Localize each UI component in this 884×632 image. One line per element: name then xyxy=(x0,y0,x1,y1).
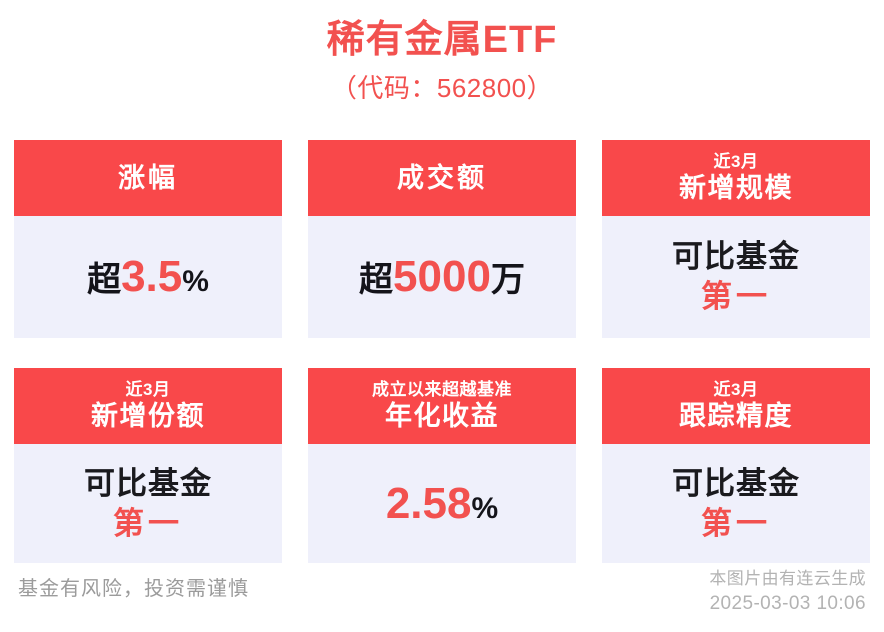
metric-body-bottom: 第一 xyxy=(701,278,771,316)
metric-card: 近3月 新增规模 可比基金 第一 xyxy=(602,140,870,338)
generated-timestamp: 2025-03-03 10:06 xyxy=(709,591,866,617)
metric-body-top: 可比基金 xyxy=(672,465,800,503)
metric-card-title: 跟踪精度 xyxy=(679,401,793,433)
metric-body-bottom: 第一 xyxy=(113,505,183,543)
metric-card-title: 成交额 xyxy=(397,162,487,194)
metric-value: 2.58 xyxy=(386,479,472,528)
metric-value: 5000 xyxy=(393,252,491,301)
metric-card-body: 2.58% xyxy=(308,444,576,563)
title-block: 稀有金属ETF （代码：562800） xyxy=(0,0,884,108)
metric-card-body: 超3.5% xyxy=(14,216,282,338)
metric-card: 近3月 跟踪精度 可比基金 第一 xyxy=(602,368,870,563)
metric-card-header: 近3月 新增规模 xyxy=(602,140,870,216)
metric-value-line: 超5000万 xyxy=(359,250,525,304)
footer-attribution: 本图片由有连云生成 2025-03-03 10:06 xyxy=(709,568,866,617)
metric-card-title: 涨幅 xyxy=(118,162,178,194)
footer: 基金有风险，投资需谨慎 本图片由有连云生成 2025-03-03 10:06 xyxy=(0,568,884,624)
metric-card-header: 近3月 新增份额 xyxy=(14,368,282,444)
risk-disclaimer: 基金有风险，投资需谨慎 xyxy=(18,568,249,601)
metric-body-top: 可比基金 xyxy=(672,238,800,276)
metric-card-header: 涨幅 xyxy=(14,140,282,216)
metric-card: 成交额 超5000万 xyxy=(308,140,576,338)
metric-card: 近3月 新增份额 可比基金 第一 xyxy=(14,368,282,563)
metric-body-top: 可比基金 xyxy=(84,465,212,503)
metric-suffix: 万 xyxy=(491,261,525,299)
metric-card-grid: 涨幅 超3.5% 成交额 超5000万 近3月 新增规模 可比基金 第一 xyxy=(14,140,870,563)
metric-card-subtitle: 近3月 xyxy=(714,379,759,401)
metric-card-header: 成立以来超越基准 年化收益 xyxy=(308,368,576,444)
metric-card-subtitle: 近3月 xyxy=(126,379,171,401)
metric-value-line: 2.58% xyxy=(386,477,498,531)
fund-code-subtitle: （代码：562800） xyxy=(0,69,884,108)
metric-value-line: 超3.5% xyxy=(87,250,209,304)
metric-value: 3.5 xyxy=(121,252,182,301)
metric-card-subtitle: 近3月 xyxy=(714,151,759,173)
metric-card: 成立以来超越基准 年化收益 2.58% xyxy=(308,368,576,563)
metric-card-title: 新增份额 xyxy=(91,401,205,433)
metric-card-title: 新增规模 xyxy=(679,173,793,205)
metric-card: 涨幅 超3.5% xyxy=(14,140,282,338)
metric-card-header: 成交额 xyxy=(308,140,576,216)
metric-suffix: % xyxy=(471,492,498,525)
metric-card-body: 可比基金 第一 xyxy=(14,444,282,563)
metric-card-body: 可比基金 第一 xyxy=(602,444,870,563)
metric-card-subtitle: 成立以来超越基准 xyxy=(372,379,512,401)
image-source-label: 本图片由有连云生成 xyxy=(709,568,866,591)
metric-prefix: 超 xyxy=(87,261,121,299)
metric-card-body: 可比基金 第一 xyxy=(602,216,870,338)
metric-card-header: 近3月 跟踪精度 xyxy=(602,368,870,444)
metric-prefix: 超 xyxy=(359,261,393,299)
metric-suffix: % xyxy=(182,265,209,298)
metric-card-body: 超5000万 xyxy=(308,216,576,338)
metric-card-title: 年化收益 xyxy=(385,401,499,433)
metric-body-bottom: 第一 xyxy=(701,505,771,543)
page-title: 稀有金属ETF xyxy=(0,18,884,63)
